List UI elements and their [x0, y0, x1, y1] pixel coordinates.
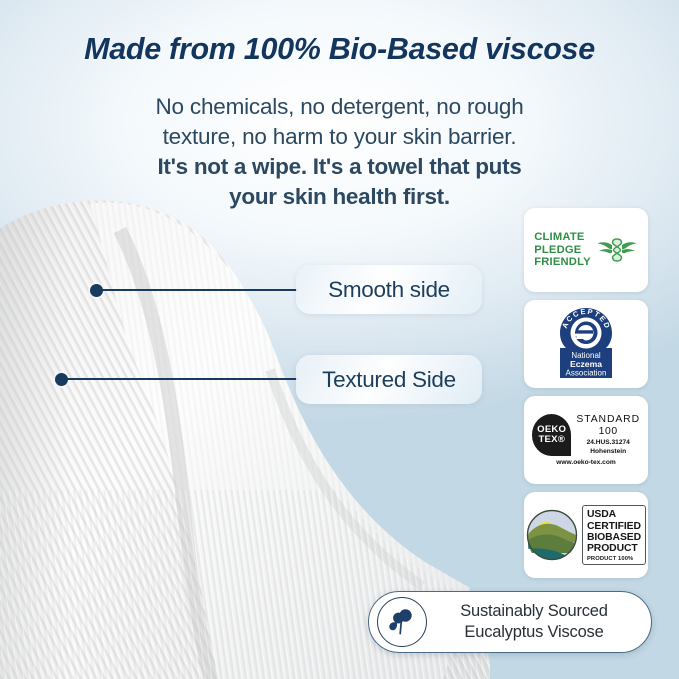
- sun-field-circle-icon: [526, 509, 578, 561]
- eucalyptus-line-1: Sustainably Sourced: [427, 601, 641, 622]
- oeko-institute: Hohenstein: [576, 448, 640, 457]
- subheading-line-3: It's not a wipe. It's a towel that puts: [60, 152, 619, 182]
- oeko-url: www.oeko-tex.com: [532, 459, 640, 466]
- eczema-line-3: Association: [566, 369, 607, 378]
- badge-climate-pledge-friendly: CLIMATE PLEDGE FRIENDLY: [524, 208, 648, 292]
- badge-usda-certified-biobased: USDA CERTIFIED BIOBASED PRODUCT PRODUCT …: [524, 492, 648, 578]
- callout-line-textured: [66, 378, 298, 380]
- oeko-standard-number: 100: [576, 426, 640, 437]
- subheading-line-1: No chemicals, no detergent, no rough: [60, 92, 619, 122]
- usda-text-block: USDA CERTIFIED BIOBASED PRODUCT PRODUCT …: [582, 505, 646, 565]
- usda-line-3: BIOBASED: [587, 532, 641, 543]
- subheading: No chemicals, no detergent, no rough tex…: [60, 92, 619, 212]
- oeko-standard-label: STANDARD: [576, 414, 640, 426]
- climate-pledge-text: CLIMATE PLEDGE FRIENDLY: [534, 231, 591, 269]
- oeko-tex-mark-icon: OEKO TEX®: [532, 414, 571, 456]
- usda-line-1: USDA: [587, 509, 641, 520]
- eucalyptus-line-2: Eucalyptus Viscose: [427, 622, 641, 643]
- usda-line-2: CERTIFIED: [587, 521, 641, 532]
- winged-hourglass-icon: [596, 233, 638, 267]
- badge-national-eczema-association: ACCEPTED National Eczema Association: [524, 300, 648, 388]
- oeko-mark-line-2: TEX®: [537, 435, 566, 445]
- page-title: Made from 100% Bio-Based viscose: [0, 32, 679, 67]
- climate-pledge-line-1: CLIMATE: [534, 231, 591, 244]
- eczema-accepted-seal-icon: ACCEPTED National Eczema Association: [555, 307, 617, 381]
- infographic-canvas: Made from 100% Bio-Based viscose No chem…: [0, 0, 679, 679]
- oeko-certificate-code: 24.HUS.31274: [576, 439, 640, 448]
- callout-label-textured: Textured Side: [296, 355, 482, 404]
- callout-label-textured-text: Textured Side: [322, 367, 456, 393]
- usda-line-4: PRODUCT: [587, 543, 641, 554]
- eucalyptus-pill-text: Sustainably Sourced Eucalyptus Viscose: [427, 601, 651, 643]
- badge-oeko-tex-standard-100: OEKO TEX® STANDARD 100 24.HUS.31274 Hohe…: [524, 396, 648, 484]
- climate-pledge-line-3: FRIENDLY: [534, 256, 591, 269]
- callout-label-smooth: Smooth side: [296, 265, 482, 314]
- climate-pledge-line-2: PLEDGE: [534, 244, 591, 257]
- eucalyptus-source-pill: Sustainably Sourced Eucalyptus Viscose: [368, 591, 652, 653]
- eucalyptus-leaf-icon: [377, 597, 427, 647]
- eczema-line-2: Eczema: [570, 359, 602, 369]
- callout-line-smooth: [101, 289, 298, 291]
- subheading-line-2: texture, no harm to your skin barrier.: [60, 122, 619, 152]
- usda-footnote: PRODUCT 100%: [587, 556, 641, 562]
- callout-label-smooth-text: Smooth side: [328, 277, 450, 303]
